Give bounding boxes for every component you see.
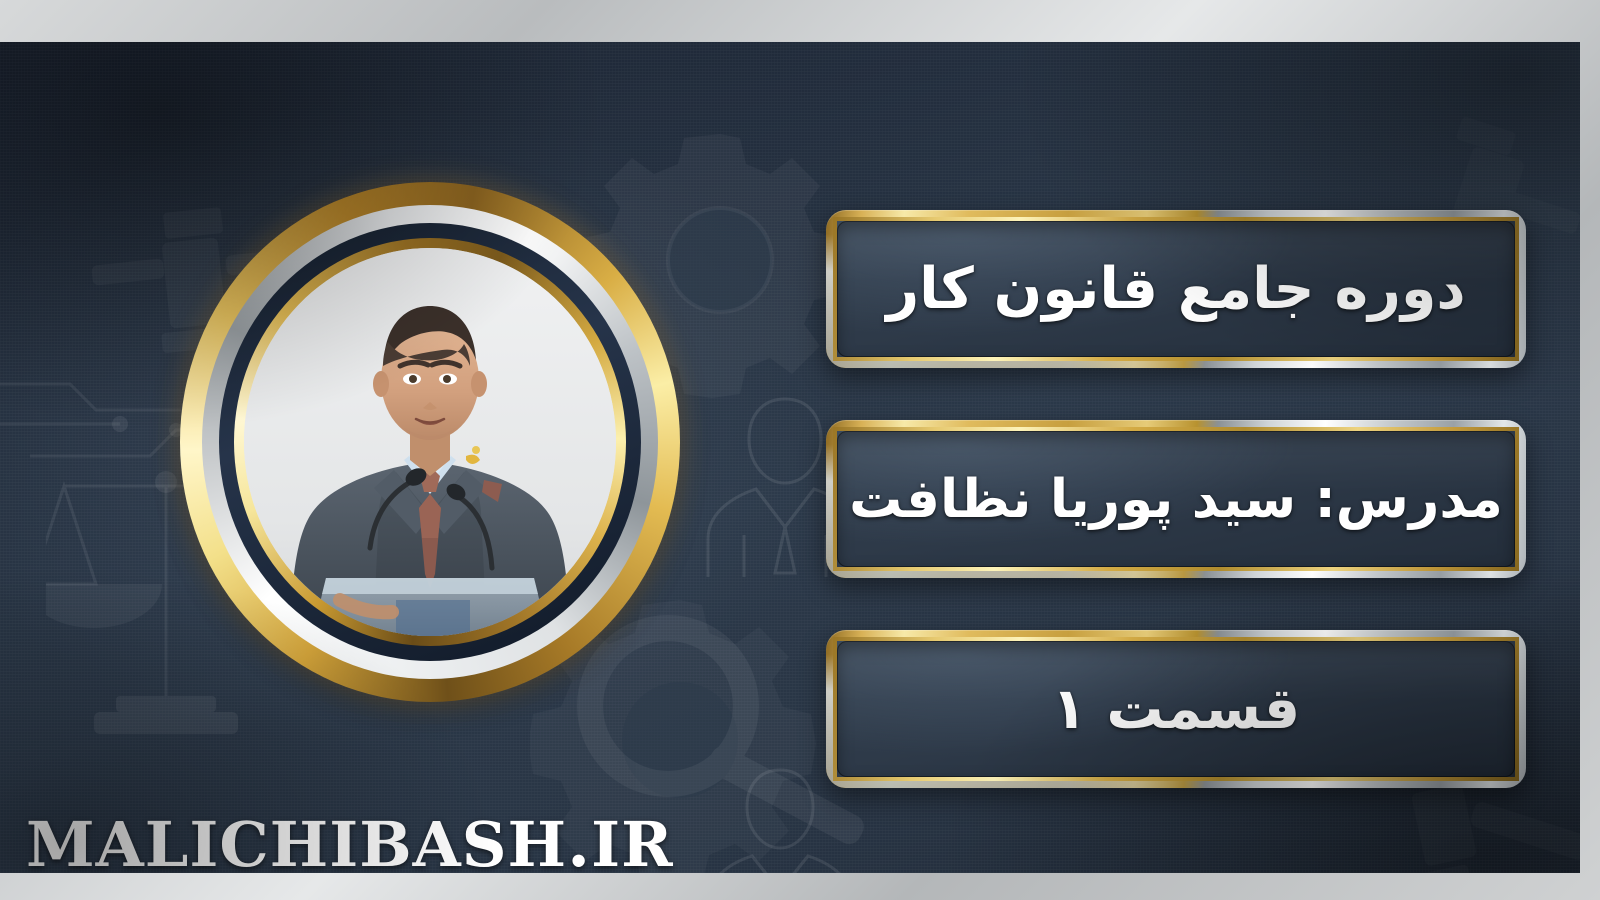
portrait-photo [244, 248, 616, 636]
site-watermark-separator: . [567, 804, 591, 873]
plaque-instructor-name: مدرس: سید پوریا نظافت [826, 420, 1526, 578]
site-watermark-tld: IR [591, 808, 674, 873]
course-poster: دوره جامع قانون کار مدرس: سید پوریا نظاف… [0, 0, 1600, 900]
plaque-course-title-inner: دوره جامع قانون کار [833, 217, 1519, 361]
site-watermark: MALICHIBASH.IR [26, 804, 674, 873]
course-title-text: دوره جامع قانون کار [886, 261, 1465, 318]
speaker-illustration [244, 248, 616, 636]
instructor-name-text: مدرس: سید پوریا نظافت [849, 473, 1503, 526]
plaque-course-title: دوره جامع قانون کار [826, 210, 1526, 368]
plaque-instructor-name-inner: مدرس: سید پوریا نظافت [833, 427, 1519, 571]
poster-canvas: دوره جامع قانون کار مدرس: سید پوریا نظاف… [0, 42, 1580, 873]
instructor-portrait [180, 182, 680, 702]
plaque-episode-number: قسمت ۱ [826, 630, 1526, 788]
episode-number-text: قسمت ۱ [1052, 681, 1301, 738]
site-watermark-name: MALICHIBASH [26, 808, 567, 873]
plaque-episode-number-inner: قسمت ۱ [833, 637, 1519, 781]
